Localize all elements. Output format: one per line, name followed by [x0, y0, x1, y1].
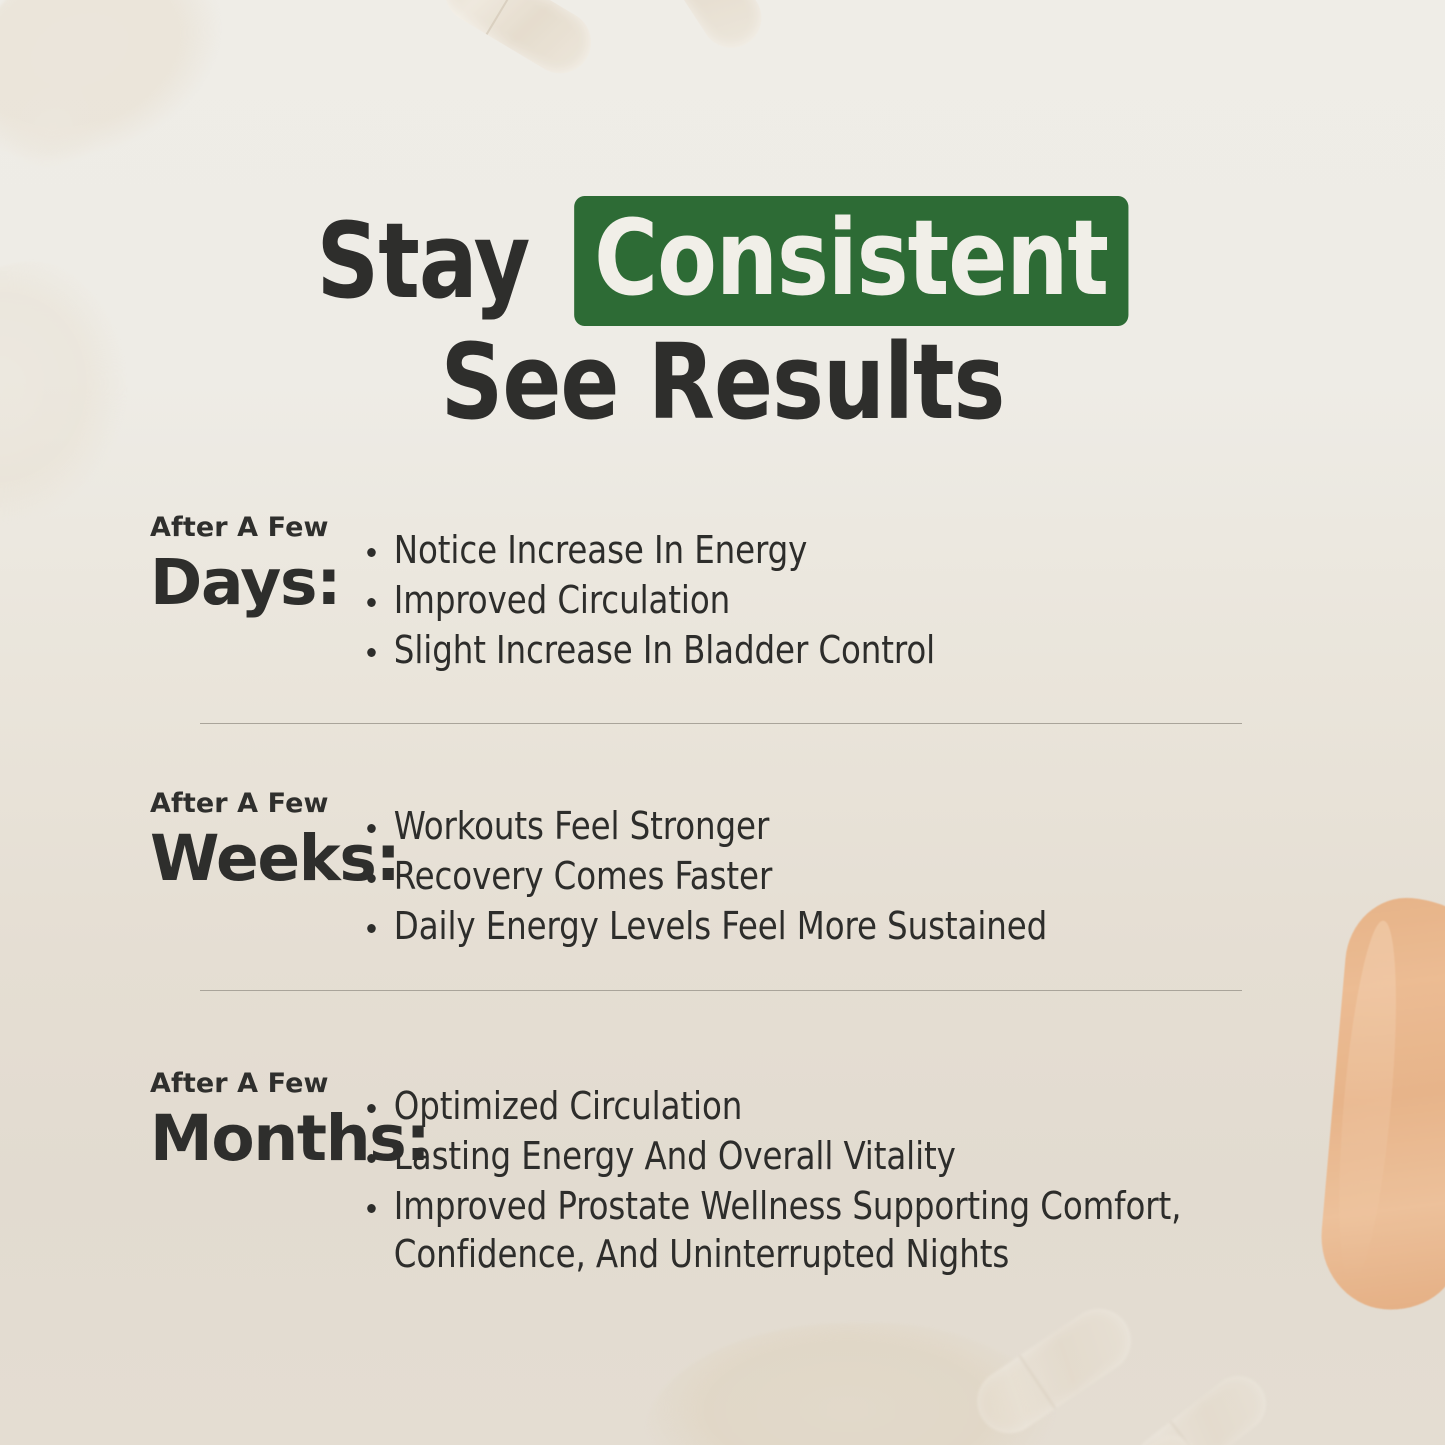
section-divider-1	[200, 723, 1242, 724]
list-item: Lasting Energy And Overall Vitality	[352, 1132, 1324, 1180]
ginger-root-bottom-icon	[646, 1323, 1066, 1445]
section-days-prefix: After A Few	[150, 512, 352, 544]
section-days-label: After A Few Days:	[0, 512, 352, 618]
section-divider-2	[200, 990, 1242, 991]
headline-line-2: See Results	[51, 326, 1395, 438]
capsule-bottom-2-icon	[1125, 1365, 1278, 1445]
capsule-top-right-icon	[638, 0, 773, 59]
section-days-bullets: Notice Increase In Energy Improved Circu…	[352, 512, 1445, 674]
list-item: Improved Circulation	[352, 576, 1324, 624]
section-days-period: Days:	[150, 548, 352, 618]
headline-highlight-consistent: Consistent	[574, 196, 1129, 326]
section-months: After A Few Months: Optimized Circulatio…	[0, 1068, 1445, 1278]
section-weeks: After A Few Weeks: Workouts Feel Stronge…	[0, 788, 1445, 950]
list-item: Notice Increase In Energy	[352, 526, 1324, 574]
list-item: Workouts Feel Stronger	[352, 802, 1324, 850]
section-months-prefix: After A Few	[150, 1068, 352, 1100]
section-weeks-bullets: Workouts Feel Stronger Recovery Comes Fa…	[352, 788, 1445, 950]
list-item: Recovery Comes Faster	[352, 852, 1324, 900]
section-weeks-period: Weeks:	[150, 824, 352, 894]
list-item: Daily Energy Levels Feel More Sustained	[352, 902, 1324, 950]
section-months-bullets: Optimized Circulation Lasting Energy And…	[352, 1068, 1445, 1278]
section-weeks-label: After A Few Weeks:	[0, 788, 352, 894]
capsule-bottom-1-icon	[965, 1296, 1143, 1445]
list-item: Improved Prostate Wellness Supporting Co…	[352, 1182, 1324, 1278]
capsule-top-left-icon	[433, 0, 602, 85]
headline-word-stay: Stay	[316, 205, 529, 317]
section-weeks-prefix: After A Few	[150, 788, 352, 820]
list-item: Slight Increase In Bladder Control	[352, 626, 1324, 674]
section-months-period: Months:	[150, 1104, 352, 1174]
headline-line-1: Stay Consistent	[51, 196, 1395, 326]
section-months-label: After A Few Months:	[0, 1068, 352, 1174]
infographic-poster: Stay Consistent See Results After A Few …	[0, 0, 1445, 1445]
list-item: Optimized Circulation	[352, 1082, 1324, 1130]
section-days: After A Few Days: Notice Increase In Ene…	[0, 512, 1445, 674]
headline: Stay Consistent See Results	[0, 196, 1445, 438]
capsule-bottom-3-icon	[1078, 1426, 1207, 1445]
